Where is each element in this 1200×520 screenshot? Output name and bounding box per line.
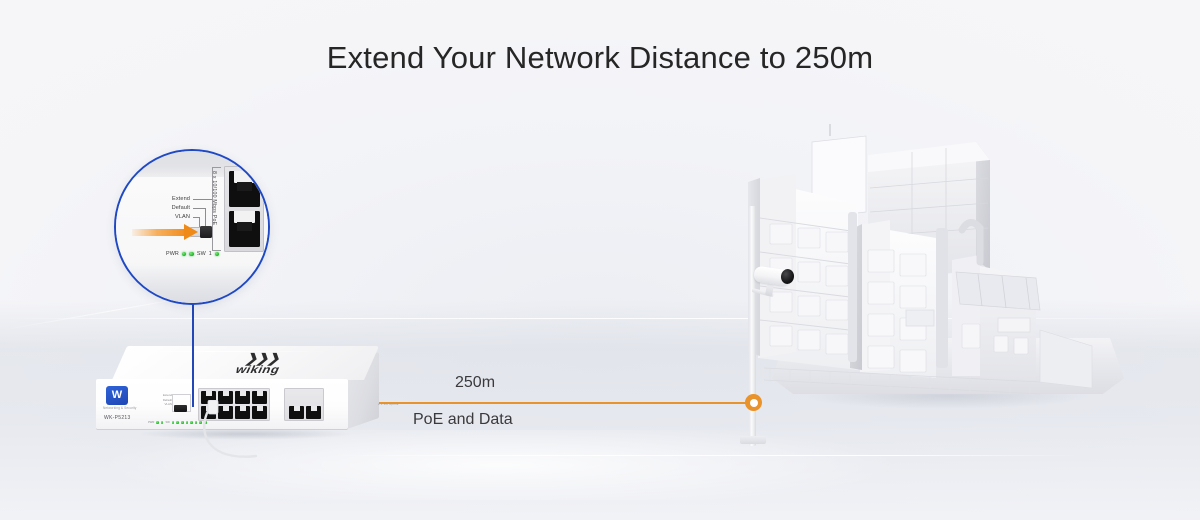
highlight-arrow-icon	[132, 224, 202, 240]
brand-name: wiking	[209, 364, 306, 375]
uplink-port-1[interactable]	[289, 406, 304, 419]
front-led-sw-icon	[161, 421, 164, 424]
mode-label-vlan: VLAN	[150, 402, 172, 407]
camera-pole-base	[740, 436, 766, 444]
uplink-port-group	[284, 388, 324, 421]
leader-line-extend	[193, 199, 213, 200]
magnified-led-label-sw: SW	[197, 251, 206, 257]
front-led-pwr-icon	[156, 421, 159, 424]
brand-sublogo-text: Networking & Security	[103, 406, 136, 410]
front-led-4-icon	[186, 421, 189, 424]
illustration-scene: Extend Your Network Distance to 250m	[0, 0, 1200, 520]
mode-selector-block[interactable]: Extend Default VLAN	[152, 393, 194, 421]
magnified-led-sw-icon	[189, 252, 194, 257]
magnified-bottom-shade	[116, 263, 268, 303]
front-led-6-icon	[195, 421, 198, 424]
building-complex	[740, 120, 1140, 410]
magnified-label-default: Default	[128, 204, 190, 213]
magnified-led-pwr-icon	[182, 252, 187, 257]
callout-connector-line	[192, 300, 194, 407]
magnified-led-1-icon	[215, 252, 220, 257]
link-distance-label: 250m	[455, 374, 495, 392]
switch-led-row: PWR SW	[148, 421, 207, 424]
magnified-led-row: PWR SW 1	[166, 251, 219, 257]
front-led-2-icon	[176, 421, 179, 424]
floor-accent-line	[330, 455, 1080, 456]
device-model-label: WK-P5213	[104, 415, 131, 421]
front-led-label-sw: SW	[165, 421, 169, 424]
building-complex-model	[740, 120, 1140, 410]
magnifier-callout: Extend Default VLAN 8 x 10/100 Mbps PoE …	[114, 149, 270, 305]
front-led-3-icon	[181, 421, 184, 424]
magnified-led-label-pwr: PWR	[166, 251, 179, 257]
uplink-port-note: 2 x 1G Uplink	[378, 402, 399, 406]
link-endpoint-camera-icon	[745, 394, 762, 411]
switch-top-highlight	[130, 351, 330, 352]
magnified-mode-labels: Extend Default VLAN	[128, 195, 190, 223]
dip-switch[interactable]	[174, 405, 187, 412]
front-led-5-icon	[190, 421, 193, 424]
mode-selector-labels: Extend Default VLAN	[150, 393, 172, 407]
uplink-port-2[interactable]	[306, 406, 321, 419]
magnified-port-group-label: 8 x 10/100 Mbps PoE	[211, 171, 217, 243]
switch-brand: ❯❯❯ wiking	[209, 354, 310, 375]
brand-logo-icon: W	[106, 386, 128, 405]
magnified-led-label-1: 1	[209, 251, 212, 257]
link-type-label: PoE and Data	[413, 411, 513, 429]
magnified-label-extend: Extend	[128, 195, 190, 204]
magnified-label-vlan: VLAN	[128, 213, 190, 222]
front-led-label-pwr: PWR	[148, 421, 154, 424]
page-title: Extend Your Network Distance to 250m	[0, 40, 1200, 76]
arrow-head	[184, 224, 198, 240]
ethernet-cable	[200, 400, 260, 462]
magnified-port-1[interactable]	[229, 171, 260, 207]
magnified-port-group	[224, 166, 264, 252]
front-led-1-icon	[172, 421, 175, 424]
arrow-shaft	[132, 229, 188, 236]
magnified-port-2[interactable]	[229, 211, 260, 247]
